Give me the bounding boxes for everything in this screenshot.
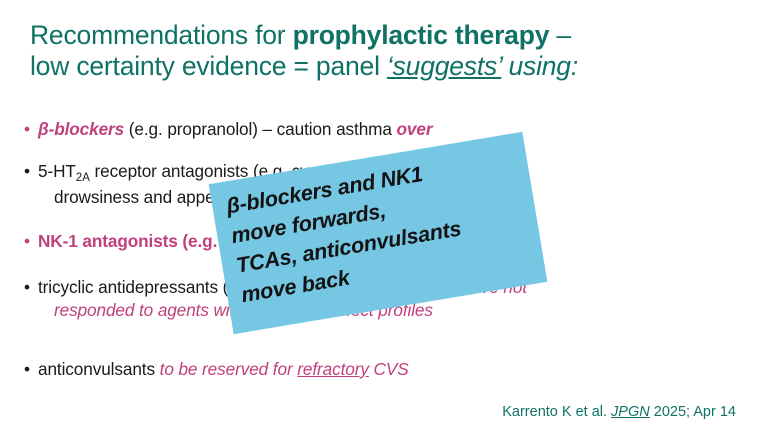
title-line-1-dash: – — [549, 20, 571, 50]
bullet-1-emphasis: over — [397, 119, 433, 139]
bullet-1-detail: (e.g. propranolol) – caution asthma — [124, 119, 396, 139]
bullet-marker-icon: • — [24, 118, 30, 141]
bullet-1-drug: β-blockers — [38, 119, 124, 139]
bullet-2-lead: 5-HT — [38, 161, 76, 181]
bullet-5-lead: anticonvulsants — [38, 359, 160, 379]
bullet-marker-icon: • — [24, 230, 30, 253]
citation-authors: Karrento K et al. — [502, 404, 607, 420]
bullet-marker-icon: • — [24, 358, 30, 381]
title-line-2: low certainty evidence = panel ‘suggests… — [30, 51, 740, 82]
slide-title: Recommendations for prophylactic therapy… — [30, 20, 740, 82]
bullet-5-emphasis-a: to be reserved for — [160, 359, 298, 379]
title-line-2-emphasis: ‘suggests’ — [387, 51, 501, 81]
title-line-1-bold: prophylactic therapy — [293, 20, 550, 50]
title-line-1: Recommendations for prophylactic therapy… — [30, 20, 740, 51]
citation: Karrento K et al. JPGN 2025; Apr 14 — [502, 403, 736, 422]
bullet-marker-icon: • — [24, 276, 30, 299]
citation-year: 2025; Apr 14 — [654, 404, 736, 420]
title-line-2-plain: low certainty evidence = panel — [30, 51, 387, 81]
title-line-2-tail: using: — [501, 51, 578, 81]
bullet-5-emphasis-underlined: refractory — [297, 359, 369, 379]
bullet-2-subscript: 2A — [76, 172, 90, 184]
bullet-beta-blockers: •β-blockers (e.g. propranolol) – caution… — [22, 118, 432, 141]
bullet-anticonvulsants: •anticonvulsants to be reserved for refr… — [22, 358, 409, 381]
bullet-marker-icon: • — [24, 160, 30, 183]
bullet-5-emphasis-b: CVS — [369, 359, 409, 379]
citation-journal: JPGN — [611, 404, 650, 420]
title-line-1-plain: Recommendations for — [30, 20, 293, 50]
